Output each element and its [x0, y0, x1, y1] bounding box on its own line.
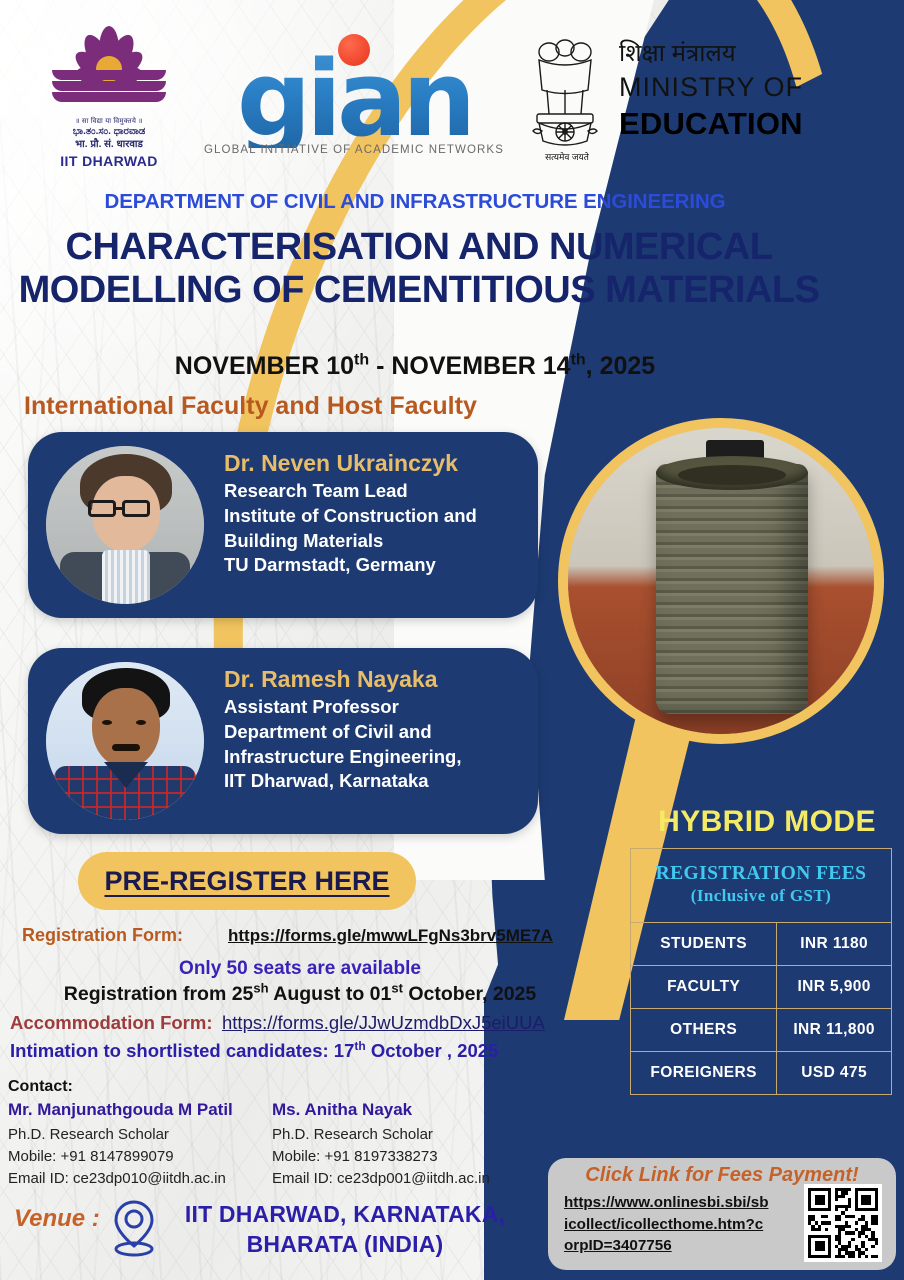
contact-person-2: Ms. Anitha Nayak Ph.D. Research Scholar … [272, 1098, 490, 1189]
pre-register-button[interactable]: PRE-REGISTER HERE [78, 852, 416, 910]
gian-tagline: GLOBAL INITIATIVE OF ACADEMIC NETWORKS [196, 144, 512, 156]
ministry-of-education-logo: सत्यमेव जयते शिक्षा मंत्रालय MINISTRY OF… [525, 30, 825, 175]
iit-name-kannada: ಭಾ.ತಂ.ಸಂ. ಧಾರವಾಡ [46, 126, 172, 139]
faculty-details-ramesh-nayaka: Dr. Ramesh Nayaka Assistant Professor De… [224, 666, 524, 794]
dates-mid: - NOVEMBER 14 [369, 352, 570, 380]
table-row: OTHERS INR 11,800 [631, 1008, 892, 1051]
reg-window-mid: August to 01 [269, 983, 392, 1005]
fees-table-header-row: REGISTRATION FEES (Inclusive of GST) [631, 849, 892, 923]
venue-line1: IIT DHARWAD, KARNATAKA, [170, 1200, 520, 1230]
ashoka-emblem-icon [525, 32, 605, 150]
payment-qr-code[interactable] [804, 1184, 882, 1262]
hybrid-mode-label: HYBRID MODE [642, 805, 892, 839]
fee-category: FOREIGNERS [631, 1051, 777, 1094]
contact-role: Ph.D. Research Scholar [272, 1124, 490, 1146]
faculty-card-neven-ukrainczyk: Dr. Neven Ukrainczyk Research Team Lead … [28, 432, 538, 618]
contact-email[interactable]: Email ID: ce23dp010@iitdh.ac.in [8, 1168, 233, 1190]
faculty-affiliation-line: Research Team Lead [224, 479, 524, 504]
reg-window-sup1: sh [253, 981, 268, 996]
registration-fees-table: REGISTRATION FEES (Inclusive of GST) STU… [630, 848, 892, 1095]
iit-name-hindi: भा. प्रौ. सं. धारवाड [46, 139, 172, 152]
emblem-motto: सत्यमेव जयते [525, 150, 609, 163]
ministry-line2: EDUCATION [619, 106, 803, 142]
department-name: DEPARTMENT OF CIVIL AND INFRASTRUCTURE E… [0, 190, 830, 214]
reg-window-prefix: Registration from 25 [64, 983, 254, 1005]
faculty-affiliation-line: Assistant Professor [224, 695, 524, 720]
fee-category: OTHERS [631, 1008, 777, 1051]
printed-concrete-photo [558, 418, 884, 744]
fee-amount: USD 475 [777, 1051, 892, 1094]
fees-table-header: REGISTRATION FEES (Inclusive of GST) [631, 849, 892, 923]
fees-header-sub: (Inclusive of GST) [637, 886, 885, 907]
fee-amount: INR 11,800 [777, 1008, 892, 1051]
registration-window: Registration from 25sh August to 01st Oc… [0, 983, 600, 1006]
iit-name-english: IIT DHARWAD [46, 153, 172, 169]
course-title-line2: MODELLING OF CEMENTITIOUS MATERIALS [0, 269, 838, 312]
faculty-affiliation-line: Institute of Construction and [224, 504, 524, 529]
seats-availability: Only 50 seats are available [0, 958, 600, 980]
payment-link[interactable]: https://www.onlinesbi.sbi/sbicollect/ico… [564, 1192, 772, 1257]
faculty-name: Dr. Neven Ukrainczyk [224, 450, 524, 477]
contact-mobile: Mobile: +91 8147899079 [8, 1146, 233, 1168]
accommodation-form-link[interactable]: https://forms.gle/JJwUzmdbDxJ5eiUUA [222, 1012, 545, 1034]
open-book-icon [52, 70, 166, 114]
faculty-affiliation-line: TU Darmstadt, Germany [224, 553, 524, 578]
gian-dot-icon [338, 34, 370, 66]
registration-form-label: Registration Form: [22, 925, 183, 946]
ministry-line1: MINISTRY OF [619, 72, 803, 103]
faculty-affiliation-line: IIT Dharwad, Karnataka [224, 769, 524, 794]
dates-sup2: th [571, 352, 586, 369]
fee-category: FACULTY [631, 965, 777, 1008]
faculty-photo-neven-ukrainczyk [46, 446, 204, 604]
dates-suffix: , 2025 [586, 352, 656, 380]
ministry-hindi-text: शिक्षा मंत्रालय [619, 36, 736, 69]
gian-wordmark: gian [196, 52, 512, 148]
table-row: STUDENTS INR 1180 [631, 922, 892, 965]
course-title-line1: CHARACTERISATION AND NUMERICAL [0, 226, 838, 269]
header-logos: ॥ सा विद्या या विमुक्तये ॥ ಭಾ.ತಂ.ಸಂ. ಧಾರ… [0, 0, 904, 182]
iit-motto: ॥ सा विद्या या विमुक्तये ॥ [46, 117, 172, 126]
reg-window-suffix: October, 2025 [403, 983, 536, 1005]
gian-logo: gian GLOBAL INITIATIVE OF ACADEMIC NETWO… [196, 34, 512, 156]
venue-address: IIT DHARWAD, KARNATAKA, BHARATA (INDIA) [170, 1200, 520, 1260]
intimation-suffix: October , 2025 [366, 1040, 499, 1061]
fees-payment-box: Click Link for Fees Payment! https://www… [548, 1158, 896, 1270]
reg-window-sup2: st [391, 981, 403, 996]
intimation-prefix: Intimation to shortlisted candidates: 17 [10, 1040, 354, 1061]
faculty-name: Dr. Ramesh Nayaka [224, 666, 524, 693]
table-row: FACULTY INR 5,900 [631, 965, 892, 1008]
course-title: CHARACTERISATION AND NUMERICAL MODELLING… [0, 226, 838, 311]
fee-amount: INR 1180 [777, 922, 892, 965]
location-pin-icon [105, 1196, 163, 1258]
venue-line2: BHARATA (INDIA) [170, 1230, 520, 1260]
pre-register-label: PRE-REGISTER HERE [104, 866, 389, 897]
faculty-card-ramesh-nayaka: Dr. Ramesh Nayaka Assistant Professor De… [28, 648, 538, 834]
intimation-sup: th [354, 1039, 365, 1053]
table-row: FOREIGNERS USD 475 [631, 1051, 892, 1094]
contact-name: Mr. Manjunathgouda M Patil [8, 1098, 233, 1123]
course-dates: NOVEMBER 10th - NOVEMBER 14th, 2025 [0, 352, 830, 381]
fees-header-main: REGISTRATION FEES [656, 863, 867, 884]
contact-mobile: Mobile: +91 8197338273 [272, 1146, 490, 1168]
faculty-affiliation-line: Infrastructure Engineering, [224, 745, 524, 770]
dates-prefix: NOVEMBER 10 [175, 352, 354, 380]
lotus-icon [46, 26, 172, 114]
fee-category: STUDENTS [631, 922, 777, 965]
accommodation-form-label: Accommodation Form: [10, 1012, 212, 1034]
faculty-section-heading: International Faculty and Host Faculty [24, 392, 477, 421]
faculty-affiliation-line: Building Materials [224, 529, 524, 554]
contact-name: Ms. Anitha Nayak [272, 1098, 490, 1123]
registration-form-link[interactable]: https://forms.gle/mwwLFgNs3brv5ME7A [228, 926, 553, 946]
contact-heading: Contact: [8, 1078, 73, 1096]
contact-email[interactable]: Email ID: ce23dp001@iitdh.ac.in [272, 1168, 490, 1190]
poster-root: ॥ सा विद्या या विमुक्तये ॥ ಭಾ.ತಂ.ಸಂ. ಧಾರ… [0, 0, 904, 1280]
intimation-date: Intimation to shortlisted candidates: 17… [10, 1040, 498, 1062]
iit-dharwad-logo: ॥ सा विद्या या विमुक्तये ॥ ಭಾ.ತಂ.ಸಂ. ಧಾರ… [46, 26, 172, 169]
fee-amount: INR 5,900 [777, 965, 892, 1008]
faculty-details-neven-ukrainczyk: Dr. Neven Ukrainczyk Research Team Lead … [224, 450, 524, 578]
faculty-affiliation-line: Department of Civil and [224, 720, 524, 745]
contact-role: Ph.D. Research Scholar [8, 1124, 233, 1146]
venue-label: Venue : [14, 1205, 100, 1233]
dates-sup1: th [354, 352, 369, 369]
faculty-photo-ramesh-nayaka [46, 662, 204, 820]
contact-person-1: Mr. Manjunathgouda M Patil Ph.D. Researc… [8, 1098, 233, 1189]
